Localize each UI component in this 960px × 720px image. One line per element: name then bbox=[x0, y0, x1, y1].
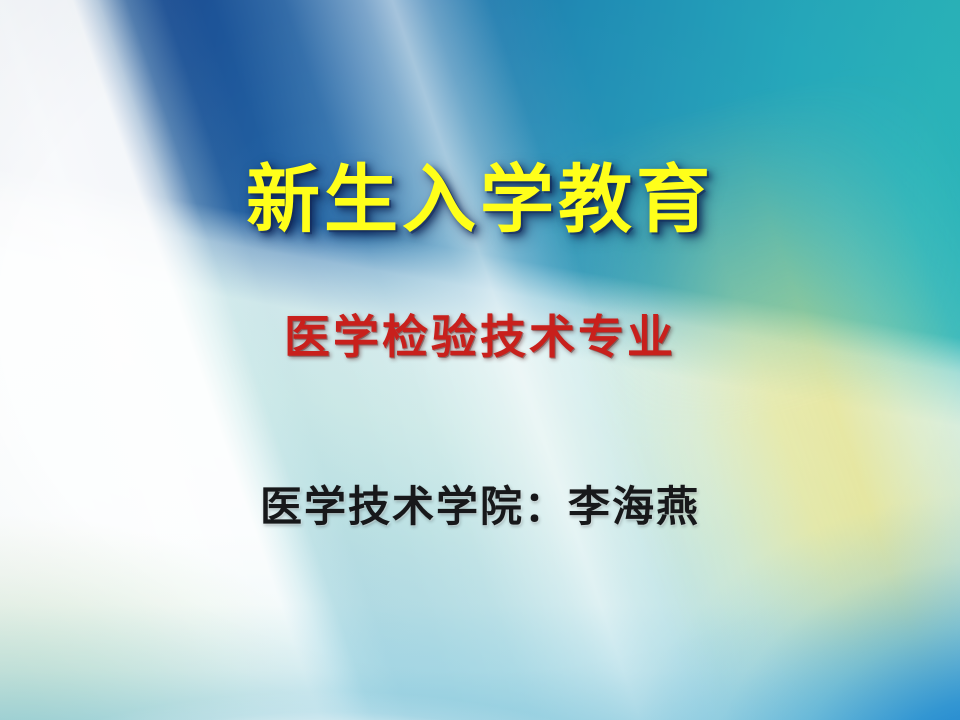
slide-title: 新生入学教育 bbox=[0, 163, 960, 237]
slide-content: 新生入学教育 医学检验技术专业 医学技术学院：李海燕 bbox=[0, 0, 960, 720]
slide-presenter: 医学技术学院：李海燕 bbox=[0, 486, 960, 528]
presentation-slide: 新生入学教育 医学检验技术专业 医学技术学院：李海燕 bbox=[0, 0, 960, 720]
slide-subtitle: 医学检验技术专业 bbox=[0, 314, 960, 360]
